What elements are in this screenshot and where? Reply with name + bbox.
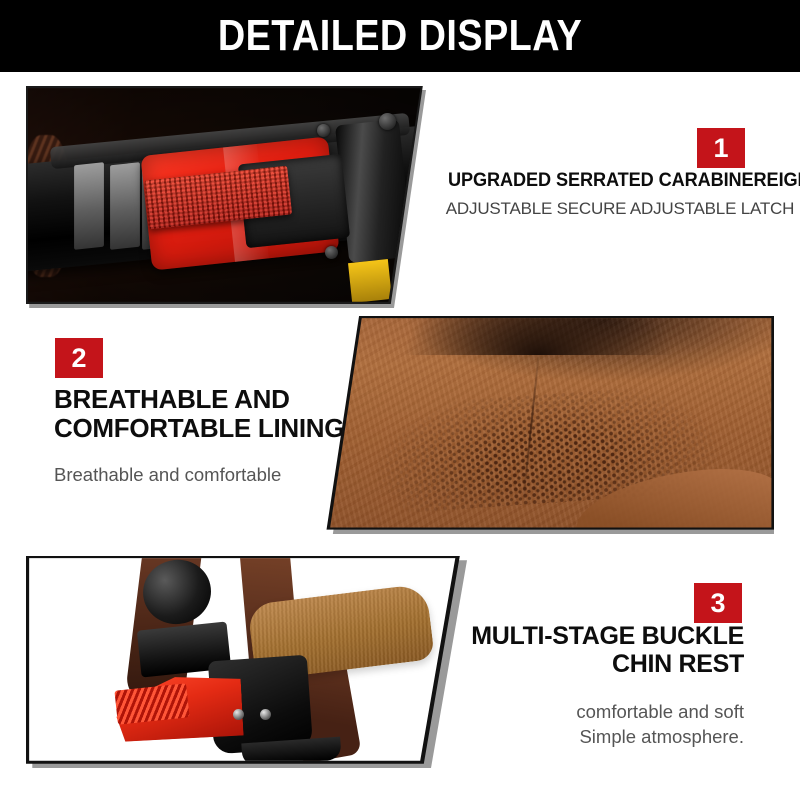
rivet-icon [325, 246, 338, 259]
photo-image [26, 86, 426, 308]
serrated-tooth [110, 162, 140, 250]
screw-icon [233, 709, 244, 720]
photo-image [26, 556, 476, 768]
section-3-subtitle-line1: comfortable and soft [420, 700, 744, 725]
step-badge-2: 2 [55, 338, 103, 378]
detail-display-page: DETAILED DISPLAY 1 UPGRADED SERRATED CAR… [0, 0, 800, 800]
product-photo-breathable-lining [322, 316, 774, 534]
yellow-accent [348, 259, 392, 303]
step-badge-1: 1 [697, 128, 745, 168]
page-title: DETAILED DISPLAY [56, 0, 744, 72]
section-3-title: MULTI-STAGE BUCKLE CHIN REST [420, 622, 744, 678]
product-photo-buckle-closeup [26, 86, 426, 308]
serrated-tooth [74, 162, 104, 250]
product-photo-chin-rest [26, 556, 476, 768]
screw-icon [260, 709, 271, 720]
section-1-title: UPGRADED SERRATED CARABINEREIGHT-STAGE [448, 170, 772, 192]
step-badge-3: 3 [694, 583, 742, 623]
rivet-icon [379, 113, 396, 130]
rivet-icon [317, 124, 330, 137]
section-3-title-line1: MULTI-STAGE BUCKLE [420, 622, 744, 650]
section-1-subtitle: ADJUSTABLE SECURE ADJUSTABLE LATCH [440, 198, 800, 221]
section-3-subtitle: comfortable and soft Simple atmosphere. [420, 700, 744, 750]
photo-image [322, 316, 774, 534]
section-3-title-line2: CHIN REST [420, 650, 744, 678]
section-3-subtitle-line2: Simple atmosphere. [420, 725, 744, 750]
